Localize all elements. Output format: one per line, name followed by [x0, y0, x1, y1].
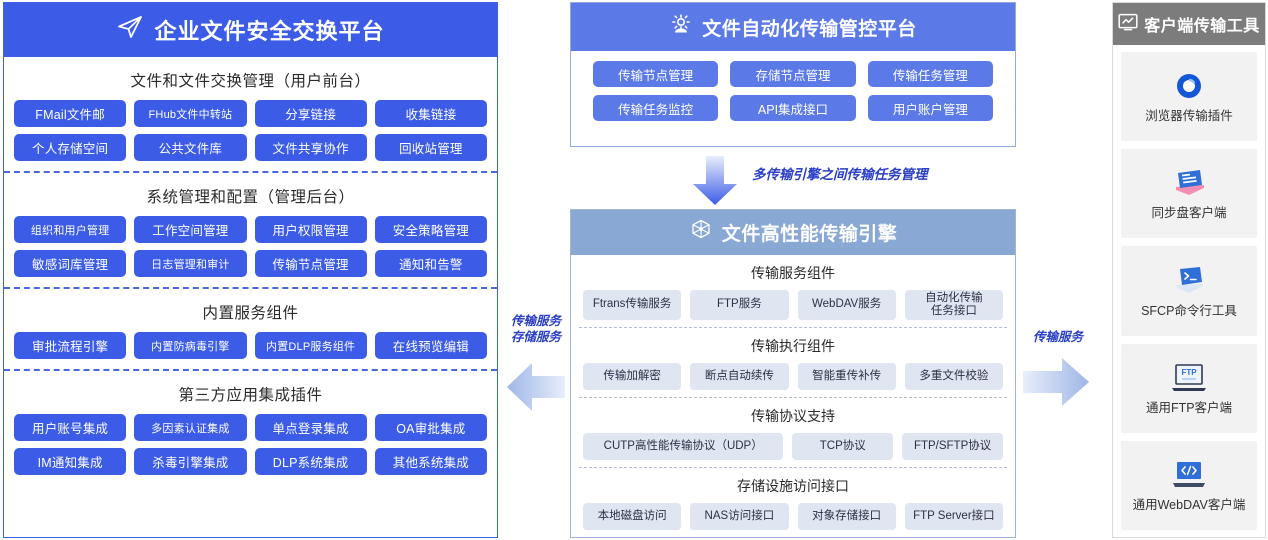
engine-section-title: 传输执行组件 — [583, 336, 1003, 356]
section-builtin-services: 内置服务组件 审批流程引擎 内置防病毒引擎 内置DLP服务组件 在线预览编辑 — [4, 287, 497, 369]
automation-control-platform-panel: 文件自动化传输管控平台 传输节点管理 存储节点管理 传输任务管理 传输任务监控 … — [570, 2, 1016, 147]
left-arrow-icon — [506, 357, 566, 422]
chip-notify-alarm[interactable]: 通知和告警 — [375, 250, 487, 277]
paper-plane-icon — [116, 14, 144, 46]
echip-object-storage[interactable]: 对象存储接口 — [798, 503, 896, 530]
chip-org-user-mgmt[interactable]: 组织和用户管理 — [14, 216, 126, 243]
left-panel-header: 企业文件安全交换平台 — [4, 3, 497, 57]
chip-antivirus-engine[interactable]: 内置防病毒引擎 — [134, 332, 246, 359]
tool-label: 同步盘客户端 — [1151, 206, 1226, 221]
right-panel-body: 浏览器传输插件 同步盘客户端 — [1113, 45, 1265, 537]
terminal-book-icon — [1169, 264, 1209, 298]
down-arrow-icon — [690, 156, 740, 206]
chip-row: 传输加解密 断点自动续传 智能重传补传 多重文件校验 — [583, 363, 1003, 390]
chip-online-preview-edit[interactable]: 在线预览编辑 — [375, 332, 487, 359]
chip-row: Ftrans传输服务 FTP服务 WebDAV服务 自动化传输 任务接口 — [583, 290, 1003, 320]
chip-fhub[interactable]: FHub文件中转站 — [134, 100, 246, 127]
monitor-chart-icon — [1118, 13, 1138, 36]
tool-label: SFCP命令行工具 — [1141, 304, 1237, 319]
section-title: 文件和文件交换管理（用户前台） — [14, 69, 487, 91]
engine-title: 文件高性能传输引擎 — [722, 219, 898, 246]
cube-node-icon — [689, 217, 713, 247]
tool-label: 浏览器传输插件 — [1145, 109, 1233, 124]
chip-transfer-node-mgmt[interactable]: 传输节点管理 — [255, 250, 367, 277]
echip-encrypt-decrypt[interactable]: 传输加解密 — [583, 363, 681, 390]
chip-other-system-integration[interactable]: 其他系统集成 — [375, 448, 487, 475]
left-arrow-label-line1: 传输服务 — [501, 314, 571, 330]
section-system-admin: 系统管理和配置（管理后台） 组织和用户管理 工作空间管理 用户权限管理 安全策略… — [4, 171, 497, 287]
chip-user-account-mgmt[interactable]: 用户账户管理 — [868, 95, 993, 121]
chip-recycle-bin[interactable]: 回收站管理 — [375, 134, 487, 161]
high-performance-transfer-engine-panel: 文件高性能传输引擎 传输服务组件 Ftrans传输服务 FTP服务 WebDAV… — [570, 209, 1016, 538]
echip-ftrans-service[interactable]: Ftrans传输服务 — [583, 290, 681, 320]
echip-tcp-protocol[interactable]: TCP协议 — [792, 433, 893, 460]
tool-card-webdav-client[interactable]: 通用WebDAV客户端 — [1121, 441, 1257, 530]
chip-row: 本地磁盘访问 NAS访问接口 对象存储接口 FTP Server接口 — [583, 503, 1003, 530]
engine-section-title: 传输协议支持 — [583, 406, 1003, 426]
chip-row: 敏感词库管理 日志管理和审计 传输节点管理 通知和告警 — [14, 250, 487, 277]
chip-file-collab[interactable]: 文件共享协作 — [255, 134, 367, 161]
tool-card-sfcp-cli[interactable]: SFCP命令行工具 — [1121, 246, 1257, 335]
chip-row: 传输节点管理 存储节点管理 传输任务管理 — [593, 61, 993, 87]
chip-mfa-integration[interactable]: 多因素认证集成 — [134, 414, 246, 441]
chip-sso-integration[interactable]: 单点登录集成 — [255, 414, 367, 441]
chip-row: 审批流程引擎 内置防病毒引擎 内置DLP服务组件 在线预览编辑 — [14, 332, 487, 359]
section-title: 内置服务组件 — [14, 301, 487, 323]
engine-section-title: 传输服务组件 — [583, 263, 1003, 283]
chip-user-permission[interactable]: 用户权限管理 — [255, 216, 367, 243]
echip-automation-task-api[interactable]: 自动化传输 任务接口 — [905, 290, 1003, 320]
code-laptop-icon — [1169, 458, 1209, 492]
chip-oa-approval-integration[interactable]: OA审批集成 — [375, 414, 487, 441]
left-arrow-label: 传输服务 存储服务 — [501, 314, 571, 345]
chip-row: 组织和用户管理 工作空间管理 用户权限管理 安全策略管理 — [14, 216, 487, 243]
tool-card-browser-plugin[interactable]: 浏览器传输插件 — [1121, 52, 1257, 141]
tool-label: 通用FTP客户端 — [1146, 401, 1232, 416]
chip-security-policy[interactable]: 安全策略管理 — [375, 216, 487, 243]
engine-header: 文件高性能传输引擎 — [571, 210, 1015, 255]
chip-log-audit[interactable]: 日志管理和审计 — [134, 250, 246, 277]
mid-top-title: 文件自动化传输管控平台 — [702, 14, 917, 41]
right-arrow-icon — [1022, 352, 1090, 417]
tool-card-ftp-client[interactable]: FTP 通用FTP客户端 — [1121, 344, 1257, 433]
chip-share-link[interactable]: 分享链接 — [255, 100, 367, 127]
chip-row: 传输任务监控 API集成接口 用户账户管理 — [593, 95, 993, 121]
echip-nas-access[interactable]: NAS访问接口 — [690, 503, 788, 530]
mid-top-body: 传输节点管理 存储节点管理 传输任务管理 传输任务监控 API集成接口 用户账户… — [571, 51, 1015, 146]
architecture-diagram: 企业文件安全交换平台 文件和文件交换管理（用户前台） FMail文件邮 FHub… — [0, 0, 1268, 540]
echip-smart-retransmit[interactable]: 智能重传补传 — [798, 363, 896, 390]
section-third-party-plugins: 第三方应用集成插件 用户账号集成 多因素认证集成 单点登录集成 OA审批集成 I… — [4, 369, 497, 485]
engine-section-title: 存储设施访问接口 — [583, 476, 1003, 496]
left-panel-title: 企业文件安全交换平台 — [154, 14, 384, 46]
echip-resume-breakpoint[interactable]: 断点自动续传 — [690, 363, 788, 390]
down-arrow-label: 多传输引擎之间传输任务管理 — [752, 163, 928, 183]
section-title: 第三方应用集成插件 — [14, 383, 487, 405]
chip-approval-engine[interactable]: 审批流程引擎 — [14, 332, 126, 359]
chip-workspace-mgmt[interactable]: 工作空间管理 — [134, 216, 246, 243]
mid-top-header: 文件自动化传输管控平台 — [571, 3, 1015, 51]
tool-card-sync-disk[interactable]: 同步盘客户端 — [1121, 149, 1257, 238]
chip-fmail[interactable]: FMail文件邮 — [14, 100, 126, 127]
echip-local-disk-access[interactable]: 本地磁盘访问 — [583, 503, 681, 530]
chip-sensitive-words[interactable]: 敏感词库管理 — [14, 250, 126, 277]
svg-text:FTP: FTP — [1181, 368, 1197, 377]
echip-ftp-service[interactable]: FTP服务 — [690, 290, 788, 320]
chip-transfer-task-mgmt[interactable]: 传输任务管理 — [868, 61, 993, 87]
chip-transfer-node-mgmt[interactable]: 传输节点管理 — [593, 61, 718, 87]
chip-dlp-component[interactable]: 内置DLP服务组件 — [255, 332, 367, 359]
right-arrow-label: 传输服务 — [1022, 330, 1094, 346]
chip-row: 个人存储空间 公共文件库 文件共享协作 回收站管理 — [14, 134, 487, 161]
echip-multi-verify[interactable]: 多重文件校验 — [905, 363, 1003, 390]
echip-cutp-protocol[interactable]: CUTP高性能传输协议（UDP） — [583, 433, 783, 460]
chip-row: IM通知集成 杀毒引擎集成 DLP系统集成 其他系统集成 — [14, 448, 487, 475]
echip-ftp-server-access[interactable]: FTP Server接口 — [905, 503, 1003, 530]
chip-transfer-task-monitor[interactable]: 传输任务监控 — [593, 95, 718, 121]
engine-body: 传输服务组件 Ftrans传输服务 FTP服务 WebDAV服务 自动化传输 任… — [571, 255, 1015, 537]
chip-row: CUTP高性能传输协议（UDP） TCP协议 FTP/SFTP协议 — [583, 433, 1003, 460]
tool-label: 通用WebDAV客户端 — [1133, 498, 1246, 513]
chip-collect-link[interactable]: 收集链接 — [375, 100, 487, 127]
chip-user-account-integration[interactable]: 用户账号集成 — [14, 414, 126, 441]
chip-personal-storage[interactable]: 个人存储空间 — [14, 134, 126, 161]
enterprise-file-exchange-platform-panel: 企业文件安全交换平台 文件和文件交换管理（用户前台） FMail文件邮 FHub… — [3, 2, 498, 538]
chip-im-notify-integration[interactable]: IM通知集成 — [14, 448, 126, 475]
engine-section-protocols: 传输协议支持 CUTP高性能传输协议（UDP） TCP协议 FTP/SFTP协议 — [579, 397, 1007, 467]
chip-dlp-system-integration[interactable]: DLP系统集成 — [255, 448, 367, 475]
section-title: 系统管理和配置（管理后台） — [14, 185, 487, 207]
echip-webdav-service[interactable]: WebDAV服务 — [798, 290, 896, 320]
chip-public-library[interactable]: 公共文件库 — [134, 134, 246, 161]
browser-plugin-icon — [1169, 69, 1209, 103]
sync-disk-icon — [1169, 166, 1209, 200]
ftp-laptop-icon: FTP — [1169, 361, 1209, 395]
engine-section-execution-components: 传输执行组件 传输加解密 断点自动续传 智能重传补传 多重文件校验 — [579, 327, 1007, 397]
left-panel-body: 文件和文件交换管理（用户前台） FMail文件邮 FHub文件中转站 分享链接 … — [4, 57, 497, 537]
right-panel-title: 客户端传输工具 — [1144, 12, 1260, 36]
right-panel-header: 客户端传输工具 — [1113, 3, 1265, 45]
left-arrow-label-line2: 存储服务 — [501, 330, 571, 346]
client-transfer-tools-panel: 客户端传输工具 浏览器传输插件 — [1112, 2, 1266, 538]
chip-api-integration[interactable]: API集成接口 — [730, 95, 855, 121]
engine-section-storage-access: 存储设施访问接口 本地磁盘访问 NAS访问接口 对象存储接口 FTP Serve… — [579, 467, 1007, 537]
gear-icon — [669, 12, 693, 42]
chip-storage-node-mgmt[interactable]: 存储节点管理 — [730, 61, 855, 87]
chip-row: FMail文件邮 FHub文件中转站 分享链接 收集链接 — [14, 100, 487, 127]
echip-ftp-sftp-protocol[interactable]: FTP/SFTP协议 — [902, 433, 1003, 460]
chip-antivirus-integration[interactable]: 杀毒引擎集成 — [134, 448, 246, 475]
section-user-frontend: 文件和文件交换管理（用户前台） FMail文件邮 FHub文件中转站 分享链接 … — [4, 57, 497, 171]
chip-row: 用户账号集成 多因素认证集成 单点登录集成 OA审批集成 — [14, 414, 487, 441]
engine-section-transfer-services: 传输服务组件 Ftrans传输服务 FTP服务 WebDAV服务 自动化传输 任… — [579, 255, 1007, 327]
